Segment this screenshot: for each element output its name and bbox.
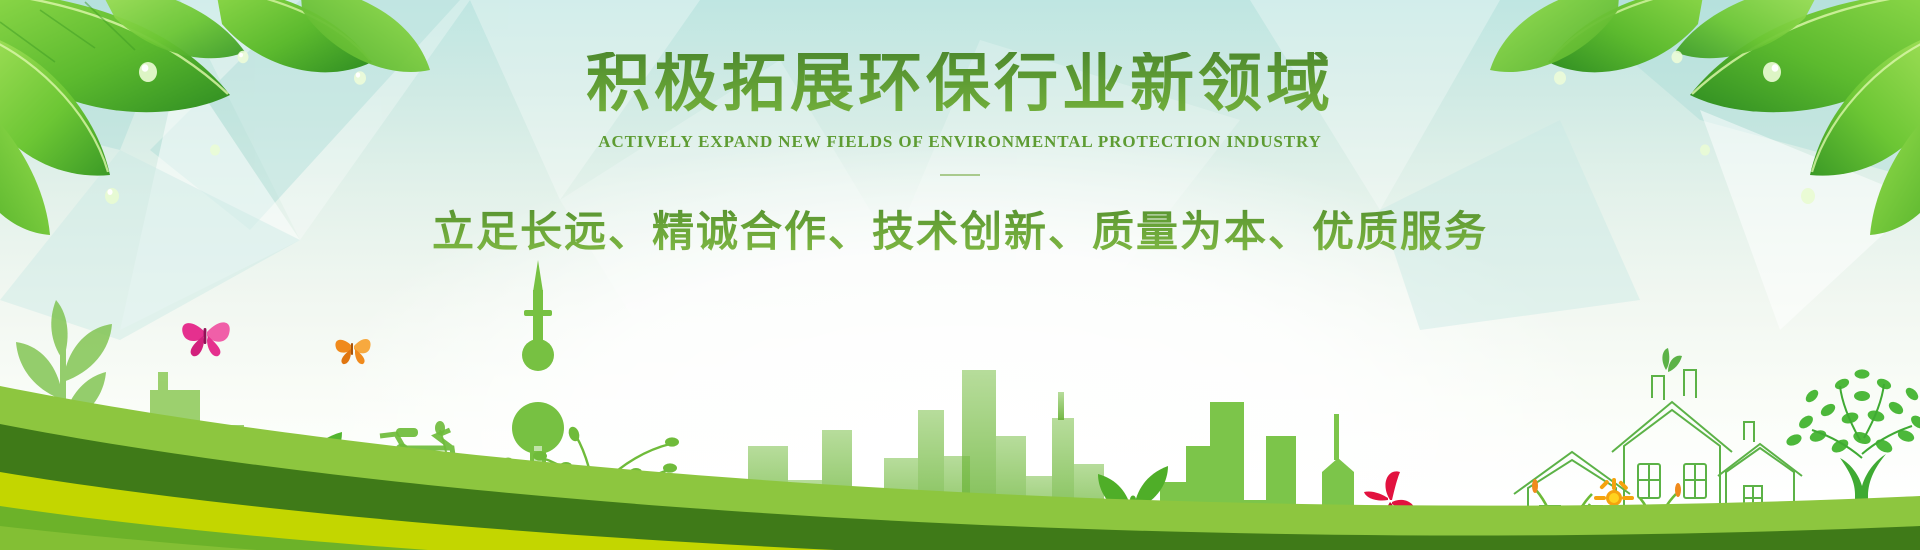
banner-title-cn: 积极拓展环保行业新领域: [0, 52, 1920, 116]
flower-orange-left: [205, 517, 232, 544]
oriental-pearl-tower: [508, 260, 568, 550]
hummingbird: [1364, 471, 1415, 526]
banner-text-block: 积极拓展环保行业新领域 ACTIVELY EXPAND NEW FIELDS O…: [0, 52, 1920, 259]
city-skyline-right: [1160, 402, 1354, 550]
title-divider: [940, 174, 980, 176]
banner-title-en: ACTIVELY EXPAND NEW FIELDS OF ENVIRONMEN…: [0, 132, 1920, 152]
banner-slogan-cn: 立足长远、精诚合作、技术创新、质量为本、优质服务: [0, 198, 1920, 259]
butterfly-pink: [182, 322, 230, 356]
grass-center: [910, 510, 1062, 550]
flowers-center: [675, 507, 704, 536]
scenery-illustration: [0, 250, 1920, 550]
sprout-left: [246, 432, 342, 550]
twig-plants-left: [404, 430, 510, 550]
twig-plant-center: [542, 436, 672, 550]
city-left: [126, 372, 278, 550]
grass-flowers-right: [1536, 490, 1722, 550]
flower-small-center: [929, 521, 950, 542]
city-skyline-main: [748, 370, 1104, 550]
sprout-right: [1098, 466, 1168, 550]
grass-left: [222, 512, 356, 550]
sapling-left: [16, 300, 112, 550]
houses-base: [1520, 526, 1820, 550]
tree-right: [1785, 369, 1920, 550]
eco-banner: 积极拓展环保行业新领域 ACTIVELY EXPAND NEW FIELDS O…: [0, 0, 1920, 550]
butterfly-orange: [335, 339, 370, 364]
european-houses: [1514, 348, 1802, 550]
bicycle: [334, 430, 498, 543]
flower-pink-right: [1564, 520, 1588, 544]
wave-bands: [0, 320, 1920, 550]
ladybug: [1009, 530, 1028, 543]
sunflower: [1594, 478, 1634, 550]
